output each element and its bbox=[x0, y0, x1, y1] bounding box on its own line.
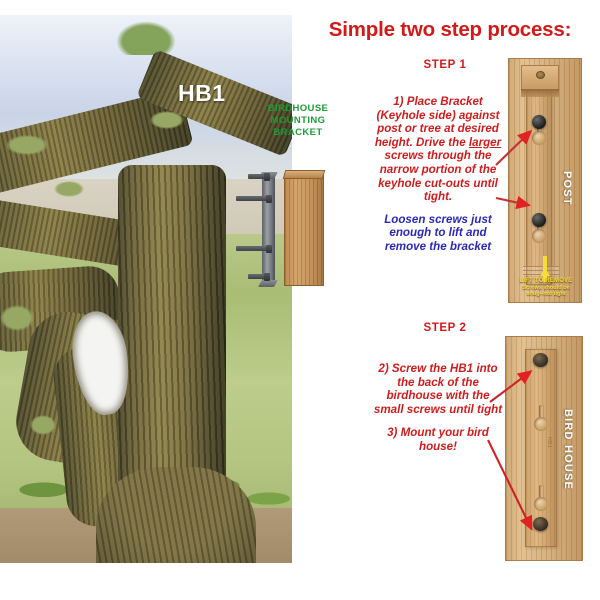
post-label: POST bbox=[561, 171, 573, 206]
bracket-caption: BIRDHOUSE MOUNTING BRACKET bbox=[252, 103, 344, 139]
long-screw bbox=[236, 196, 270, 201]
lift-arrow-head bbox=[540, 268, 550, 276]
screw-head bbox=[264, 173, 270, 181]
short-screw bbox=[248, 274, 268, 279]
metal-bracket bbox=[262, 176, 275, 284]
screw-head bbox=[264, 273, 270, 281]
step-1-paragraph-1: 1) Place Bracket (Keyhole side) against … bbox=[372, 95, 504, 204]
moss-patch bbox=[30, 415, 56, 435]
short-screw bbox=[248, 174, 268, 179]
wood-block-top bbox=[283, 170, 326, 179]
lift-to-remove-note: LIFT TO REMOVE Screws should be snug--no… bbox=[515, 278, 577, 298]
small-screw bbox=[533, 517, 548, 531]
step-2-diagram: HB1 BIRD HOUSE bbox=[505, 336, 583, 561]
moss-patch bbox=[6, 135, 48, 155]
foliage bbox=[116, 21, 176, 55]
long-screw bbox=[236, 246, 270, 251]
step-1-paragraph-2: Loosen screws just enough to lift and re… bbox=[372, 213, 504, 254]
trunk-base bbox=[96, 467, 256, 563]
keyhole-circle bbox=[534, 417, 548, 431]
moss-patch bbox=[0, 305, 34, 331]
lift-note-line-2: snug--not tight bbox=[515, 291, 577, 298]
small-screw bbox=[533, 353, 548, 367]
instruction-sheet: HB1 BIRDHOUSE MOUNTING BRACKET Simple tw… bbox=[0, 0, 600, 600]
moss-patch bbox=[54, 181, 84, 197]
wood-block bbox=[284, 174, 324, 286]
page-title: Simple two step process: bbox=[300, 18, 600, 42]
screw-head bbox=[266, 195, 272, 203]
bracket-tab-bottom bbox=[258, 280, 278, 287]
bracket-caption-line-3: BRACKET bbox=[252, 127, 344, 139]
step-2-paragraph-1: 2) Screw the HB1 into the back of the bi… bbox=[372, 362, 504, 416]
bracket-caption-line-1: BIRDHOUSE bbox=[252, 103, 344, 115]
bird-house-label: BIRD HOUSE bbox=[562, 409, 574, 490]
step-1-instructions: 1) Place Bracket (Keyhole side) against … bbox=[372, 95, 504, 254]
mounting-screw bbox=[532, 115, 546, 129]
step-2-label: STEP 2 bbox=[370, 322, 520, 334]
exploded-bracket-diagram bbox=[236, 170, 328, 290]
keyhole-circle bbox=[532, 131, 546, 145]
hanger-shadow bbox=[521, 89, 559, 97]
product-model-label: HB1 bbox=[178, 80, 226, 107]
moss-patch bbox=[150, 111, 184, 129]
keyhole-circle bbox=[534, 497, 548, 511]
step-1-text-b: screws through the narrow portion of the… bbox=[378, 149, 498, 203]
step-2-instructions: 2) Screw the HB1 into the back of the bi… bbox=[372, 362, 504, 454]
lift-note-heading: LIFT TO REMOVE bbox=[515, 278, 577, 285]
keyhole-circle bbox=[532, 229, 546, 243]
step-1-diagram: POST LIFT TO REMOVE Screws should be snu… bbox=[508, 58, 582, 303]
step-1-label: STEP 1 bbox=[370, 59, 520, 71]
bracket-caption-line-2: MOUNTING bbox=[252, 115, 344, 127]
mounting-screw bbox=[532, 213, 546, 227]
plate-emboss-text: HB1 bbox=[530, 437, 552, 448]
hanger-screw bbox=[536, 71, 545, 79]
step-2-paragraph-2: 3) Mount your bird house! bbox=[372, 426, 504, 453]
screw-head bbox=[266, 245, 272, 253]
step-1-emphasis: larger bbox=[469, 136, 501, 149]
